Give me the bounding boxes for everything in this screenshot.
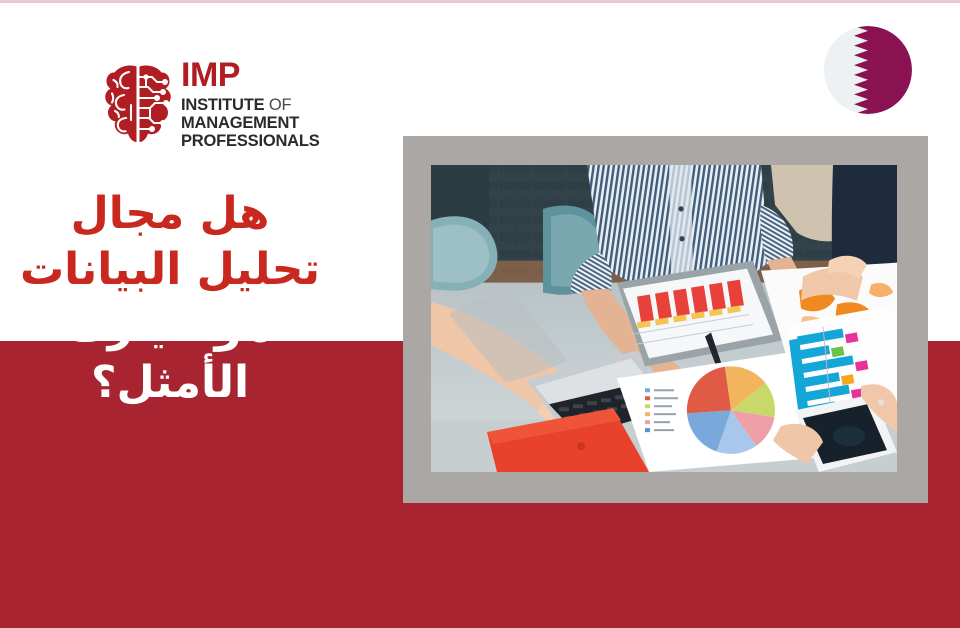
logo-of-word: OF	[269, 96, 292, 114]
headline-line-3: هو خيارك	[0, 299, 340, 355]
top-hairline	[0, 0, 960, 3]
page-headline: هل مجال تحليل البيانات هو خيارك الأمثل؟	[0, 186, 340, 411]
logo-line-management: MANAGEMENT	[181, 115, 320, 132]
headline-line-4: الأمثل؟	[0, 355, 340, 411]
logo-line-institute: INSTITUTE OF	[181, 97, 320, 114]
headline-line-2: تحليل البيانات	[0, 242, 340, 298]
logo-line-professionals: PROFESSIONALS	[181, 133, 320, 150]
photo-frame	[403, 136, 928, 503]
logo-institute-word: INSTITUTE	[181, 96, 264, 114]
imp-logo: IMP INSTITUTE OF MANAGEMENT PROFESSIONAL…	[104, 58, 320, 149]
poster-canvas: IMP INSTITUTE OF MANAGEMENT PROFESSIONAL…	[0, 0, 960, 628]
logo-acronym: IMP	[181, 58, 320, 92]
qatar-flag-circle	[824, 26, 912, 114]
business-team-data-analysis-photo	[431, 165, 897, 472]
imp-logo-text: IMP INSTITUTE OF MANAGEMENT PROFESSIONAL…	[181, 58, 320, 149]
headline-line-1: هل مجال	[0, 186, 340, 242]
brain-circuit-icon	[104, 60, 172, 148]
